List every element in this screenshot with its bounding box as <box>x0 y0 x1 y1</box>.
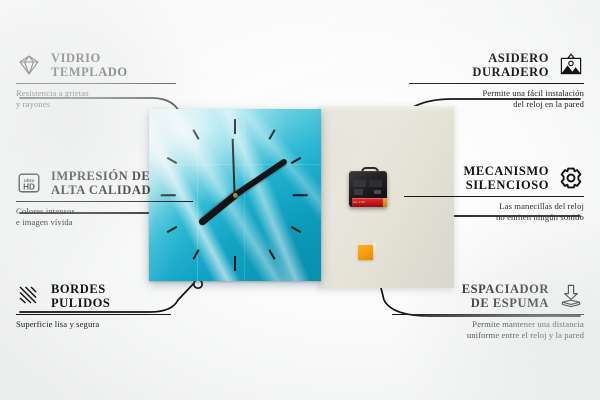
diamond-icon <box>16 52 42 78</box>
feature-title: VIDRIO TEMPLADO <box>51 51 128 80</box>
mechanism-detail-c <box>354 189 363 195</box>
feature-title: ESPACIADOR DE ESPUMA <box>462 282 549 311</box>
feature-durable-hanger: ASIDERO DURADERO Permite una fácil insta… <box>374 50 584 110</box>
feature-header: ultra HD IMPRESIÓN DE ALTA CALIDAD <box>16 168 226 198</box>
mechanism-detail-a <box>353 180 366 187</box>
foam-spacer-piece <box>358 243 375 260</box>
clock-tick-5 <box>268 249 275 260</box>
feature-header: BORDES PULIDOS <box>16 281 226 311</box>
feature-divider <box>404 196 584 197</box>
foam-spacer-front <box>358 245 373 260</box>
clock-tick-1 <box>268 129 275 140</box>
feature-description: Superficie lisa y segura <box>16 319 226 330</box>
foam-spacer-side <box>373 243 376 259</box>
feature-title: ASIDERO DURADERO <box>472 51 549 80</box>
battery-label: AA 1.5V <box>353 200 365 204</box>
feature-title: MECANISMO SILENCIOSO <box>463 164 549 193</box>
product-feature-infographic: AA 1.5V <box>0 0 600 400</box>
feature-header: MECANISMO SILENCIOSO <box>374 163 584 193</box>
clock-tick-12 <box>234 119 236 134</box>
feature-hd-print: ultra HD IMPRESIÓN DE ALTA CALIDAD Color… <box>16 168 226 228</box>
feature-description: Permite una fácil instalación del reloj … <box>374 88 584 109</box>
ultra-hd-badge-icon: ultra HD <box>16 170 42 196</box>
feature-divider <box>409 83 584 84</box>
feature-header: ESPACIADOR DE ESPUMA <box>374 281 584 311</box>
feature-divider <box>16 314 171 315</box>
feature-description: Colores intensos e imagen vívida <box>16 206 226 227</box>
clock-tick-6 <box>234 256 236 271</box>
clock-tick-2 <box>291 157 302 164</box>
feature-silent-mechanism: MECANISMO SILENCIOSO Las manecillas del … <box>374 163 584 223</box>
feature-divider <box>16 83 176 84</box>
feature-description: Resistencia a grietas y rayones <box>16 88 226 109</box>
clock-tick-11 <box>192 129 199 140</box>
feature-foam-spacer: ESPACIADOR DE ESPUMA Permite mantener un… <box>374 281 584 341</box>
feature-description: Permite mantener una distancia uniforme … <box>374 319 584 340</box>
feature-title: IMPRESIÓN DE ALTA CALIDAD <box>51 169 151 198</box>
diagonal-lines-icon <box>16 283 42 309</box>
feature-polished-edges: BORDES PULIDOS Superficie lisa y segura <box>16 281 226 330</box>
clock-center-cap <box>233 193 238 198</box>
feature-description: Las manecillas del reloj no emiten ningú… <box>374 201 584 222</box>
clock-tick-4 <box>291 226 302 233</box>
clock-tick-10 <box>167 157 178 164</box>
gear-icon <box>558 165 584 191</box>
feature-tempered-glass: VIDRIO TEMPLADO Resistencia a grietas y … <box>16 50 226 110</box>
feature-header: ASIDERO DURADERO <box>374 50 584 80</box>
clock-tick-3 <box>293 194 308 196</box>
feature-divider <box>392 314 584 315</box>
feature-title: BORDES PULIDOS <box>51 282 110 311</box>
clock-tick-7 <box>192 249 199 260</box>
glass-seam-horizontal-1 <box>149 164 321 165</box>
arrow-down-onto-pad-icon <box>558 283 584 309</box>
clock-second-hand <box>232 139 236 199</box>
feature-header: VIDRIO TEMPLADO <box>16 50 226 80</box>
hanging-picture-frame-icon <box>558 52 584 78</box>
svg-text:HD: HD <box>23 182 35 191</box>
glass-seam-vertical-2 <box>244 109 245 281</box>
feature-divider <box>16 201 193 202</box>
